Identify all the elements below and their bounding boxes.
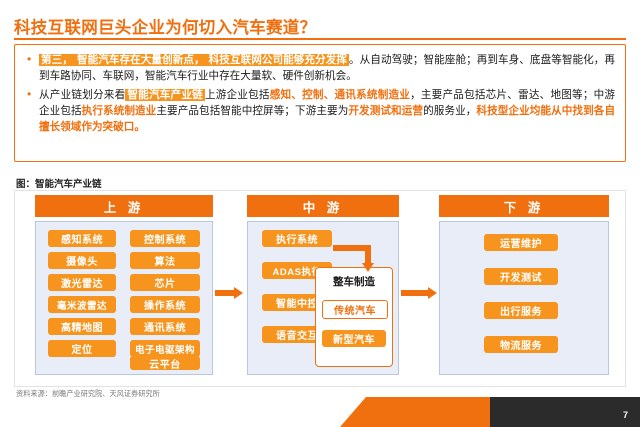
panel-downstream: 运营维护 开发测试 出行服务 物流服务 xyxy=(439,221,609,375)
chip-upstream-10: 操作系统 xyxy=(130,296,200,313)
bullet-1-seg-3: 科技互联网公司能够充分发挥 xyxy=(207,54,349,66)
chip-upstream-1: 感知系统 xyxy=(48,230,116,247)
bullet-box: 第三，智能汽车存在大量创新点，科技互联网公司能够充分发挥。从自动驾驶；智能座舱；… xyxy=(14,44,626,162)
vehicle-manufacturing-box: 整车制造 传统汽车 新型汽车 xyxy=(315,267,393,367)
chip-upstream-3: 激光雷达 xyxy=(48,274,116,291)
chip-downstream-2: 开发测试 xyxy=(484,268,558,285)
bullet-2-seg-2: 智能汽车产业链 xyxy=(125,89,205,101)
bullet-item-2: 从产业链划分来看智能汽车产业链上游企业包括感知、控制、通讯系统制造业，主要产品包… xyxy=(25,87,615,136)
bullet-2-seg-9: 的服务业， xyxy=(423,105,476,117)
bullet-2-seg-1: 从产业链划分来看 xyxy=(39,89,125,101)
chip-new-vehicle: 新型汽车 xyxy=(322,330,386,347)
chip-upstream-9: 芯片 xyxy=(130,274,200,291)
band-downstream: 下 游 xyxy=(439,195,609,217)
title-divider xyxy=(14,38,626,40)
chip-downstream-3: 出行服务 xyxy=(484,302,558,319)
band-midstream: 中 游 xyxy=(247,195,399,217)
chip-upstream-12: 电子电驱架构 xyxy=(130,340,200,357)
chip-downstream-1: 运营维护 xyxy=(484,234,558,251)
chip-upstream-13: 云平台 xyxy=(130,356,200,370)
chip-upstream-11: 通讯系统 xyxy=(130,318,200,335)
bullet-2-seg-7: 主要产品包括智能中控屏等；下游主要为 xyxy=(156,105,348,117)
chip-upstream-6: 定位 xyxy=(48,340,116,357)
bullet-1-seg-2: 智能汽车存在大量创新点， xyxy=(75,54,207,66)
page-title: 科技互联网巨头企业为何切入汽车赛道？ xyxy=(14,14,316,38)
slide: 科技互联网巨头企业为何切入汽车赛道？ 第三，智能汽车存在大量创新点，科技互联网公… xyxy=(0,0,640,427)
panel-upstream: 感知系统 摄像头 激光雷达 毫米波雷达 高精地图 定位 控制系统 算法 芯片 操… xyxy=(35,221,213,375)
bullet-2-seg-8: 开发测试和运营 xyxy=(348,105,423,117)
chip-midstream-1: 执行系统 xyxy=(262,230,332,247)
chip-downstream-4: 物流服务 xyxy=(484,336,558,353)
arrow-midstream-to-downstream xyxy=(401,287,439,299)
band-upstream: 上 游 xyxy=(35,195,213,217)
bullet-2-seg-6: 执行系统制造业 xyxy=(82,105,157,117)
vehicle-manufacturing-title: 整车制造 xyxy=(316,274,392,289)
bullet-1-seg-1: 第三， xyxy=(39,54,75,66)
chip-upstream-4: 毫米波雷达 xyxy=(48,296,116,313)
arrow-midstream-to-integration xyxy=(333,243,377,273)
arrow-upstream-to-midstream xyxy=(215,287,245,299)
footer: 7 xyxy=(0,397,640,427)
footer-orange-shape xyxy=(340,397,490,427)
chip-upstream-7: 控制系统 xyxy=(130,230,200,247)
page-number: 7 xyxy=(623,410,628,420)
bullet-2-seg-3: 上游企业包括 xyxy=(205,89,270,101)
chip-traditional-vehicle: 传统汽车 xyxy=(322,300,388,319)
chip-upstream-8: 算法 xyxy=(130,252,200,269)
chip-upstream-5: 高精地图 xyxy=(48,318,116,335)
value-chain-diagram: 上 游 中 游 下 游 感知系统 摄像头 激光雷达 毫米波雷达 高精地图 定位 … xyxy=(14,190,626,387)
bullet-item-1: 第三，智能汽车存在大量创新点，科技互联网公司能够充分发挥。从自动驾驶；智能座舱；… xyxy=(25,52,615,85)
chip-upstream-2: 摄像头 xyxy=(48,252,116,269)
figure-caption: 图：智能汽车产业链 xyxy=(16,176,102,190)
bullet-2-seg-4: 感知、控制、通讯系统制造业 xyxy=(270,89,410,101)
